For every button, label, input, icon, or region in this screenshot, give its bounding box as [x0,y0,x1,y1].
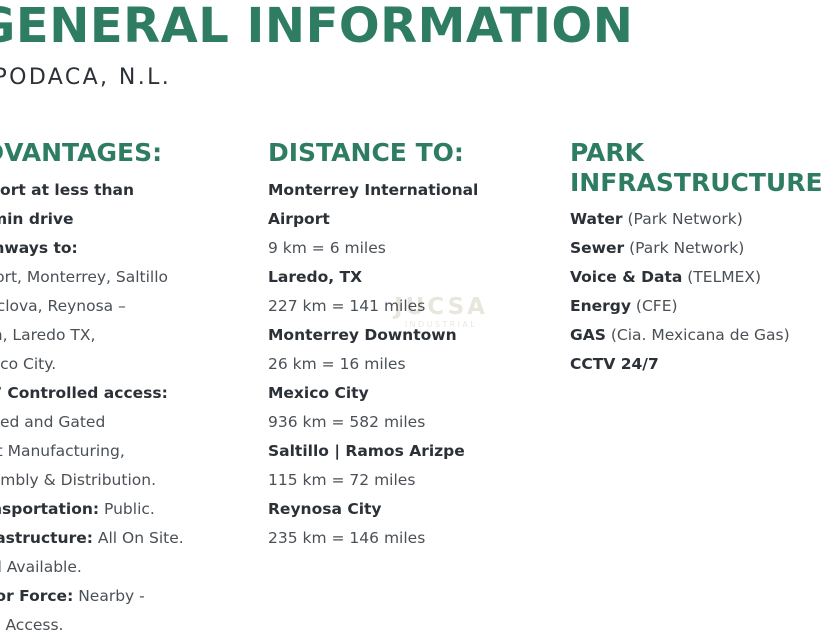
info-line-label: GAS [570,326,606,344]
info-line-value: Easy Access. [0,616,63,630]
info-line: Mexico City [268,379,558,408]
park-list: Water (Park Network)Sewer (Park Network)… [570,205,840,379]
info-line: Monclova, Reynosa – [0,292,232,321]
distance-list: Monterrey InternationalAirport9 km = 6 m… [268,176,558,553]
info-panel: JUCSA INDUSTRIAL GENERAL INFORMATION APO… [0,0,840,630]
info-line: 24/7 Controlled access: [0,379,232,408]
info-line: Infrastructure: All On Site. [0,524,232,553]
info-line: 227 km = 141 miles [268,292,558,321]
info-line-value: Land Available. [0,558,82,576]
info-line: CCTV 24/7 [570,350,840,379]
info-line-value: Public. [99,500,155,518]
title-block: GENERAL INFORMATION APODACA, N.L. [0,0,633,90]
info-line: Transportation: Public. [0,495,232,524]
info-line-label: Airport at less than [0,181,134,199]
info-line-label: Infrastructure: [0,529,93,547]
info-line-value: 936 km = 582 miles [268,413,425,431]
info-line-value: 9 km = 6 miles [268,239,386,257]
info-line: Easy Access. [0,611,232,630]
park-heading: PARK INFRASTRUCTURE [570,138,840,197]
info-line-label: Airport [268,210,330,228]
info-line: 26 km = 16 miles [268,350,558,379]
info-line: Light Manufacturing, [0,437,232,466]
info-line: Monterrey International [268,176,558,205]
info-line-label: Voice & Data [570,268,682,286]
info-line-value: Nearby - [73,587,144,605]
info-line-value: All On Site. [93,529,184,547]
info-line-label: 24/7 Controlled access: [0,384,168,402]
info-line: Laredo, TX [268,263,558,292]
info-line-label: Energy [570,297,631,315]
info-line-value: 227 km = 141 miles [268,297,425,315]
info-line: Fenced and Gated [0,408,232,437]
info-line: GAS (Cia. Mexicana de Gas) [570,321,840,350]
info-line-label: Sewer [570,239,624,257]
info-line: Land Available. [0,553,232,582]
info-line-value: Light Manufacturing, [0,442,125,460]
info-line: Mexico City. [0,350,232,379]
info-line: Water (Park Network) [570,205,840,234]
info-line: Airport [268,205,558,234]
info-line-value: Monclova, Reynosa – [0,297,126,315]
distance-heading: DISTANCE TO: [268,138,558,168]
info-line-label: CCTV 24/7 [570,355,659,373]
info-line-label: Monterrey International [268,181,478,199]
info-line: Saltillo | Ramos Arizpe [268,437,558,466]
info-line-value: (Cia. Mexicana de Gas) [606,326,790,344]
info-line-label: Monterrey Downtown [268,326,457,344]
info-line-value: (TELMEX) [682,268,761,286]
info-line-label: Labor Force: [0,587,73,605]
info-line-value: 235 km = 146 miles [268,529,425,547]
info-line-value: 26 km = 16 miles [268,355,406,373]
page-title: GENERAL INFORMATION [0,0,633,54]
info-line: Airport, Monterrey, Saltillo [0,263,232,292]
advantages-heading: ADVANTAGES: [0,138,232,168]
info-line-value: Assembly & Distribution. [0,471,156,489]
page-subtitle: APODACA, N.L. [0,66,633,90]
info-line: 115 km = 72 miles [268,466,558,495]
info-line-label: Transportation: [0,500,99,518]
info-line-label: Reynosa City [268,500,382,518]
info-line: Energy (CFE) [570,292,840,321]
column-park-infrastructure: PARK INFRASTRUCTURE Water (Park Network)… [570,138,840,379]
info-line: Assembly & Distribution. [0,466,232,495]
info-line-value: Fenced and Gated [0,413,105,431]
info-line: Allen, Laredo TX, [0,321,232,350]
info-line-label: Laredo, TX [268,268,362,286]
info-line: 235 km = 146 miles [268,524,558,553]
info-line-value: 115 km = 72 miles [268,471,415,489]
info-line: Airport at less than [0,176,232,205]
info-line: Voice & Data (TELMEX) [570,263,840,292]
info-line-label: Water [570,210,623,228]
column-distance: DISTANCE TO: Monterrey InternationalAirp… [268,138,558,553]
column-advantages: ADVANTAGES: Airport at less than15 min d… [0,138,232,630]
info-line-value: Allen, Laredo TX, [0,326,95,344]
info-line: Highways to: [0,234,232,263]
info-line-label: Highways to: [0,239,78,257]
info-line-value: (Park Network) [623,210,743,228]
advantages-list: Airport at less than15 min driveHighways… [0,176,232,630]
info-line-value: Mexico City. [0,355,56,373]
info-line: 15 min drive [0,205,232,234]
info-line: Reynosa City [268,495,558,524]
info-line-label: 15 min drive [0,210,74,228]
info-line: Sewer (Park Network) [570,234,840,263]
info-line: 9 km = 6 miles [268,234,558,263]
info-line-value: Airport, Monterrey, Saltillo [0,268,168,286]
info-line-label: Saltillo | Ramos Arizpe [268,442,465,460]
info-line: 936 km = 582 miles [268,408,558,437]
info-line-label: Mexico City [268,384,369,402]
info-line-value: (Park Network) [624,239,744,257]
info-line-value: (CFE) [631,297,678,315]
info-line: Labor Force: Nearby - [0,582,232,611]
info-line: Monterrey Downtown [268,321,558,350]
